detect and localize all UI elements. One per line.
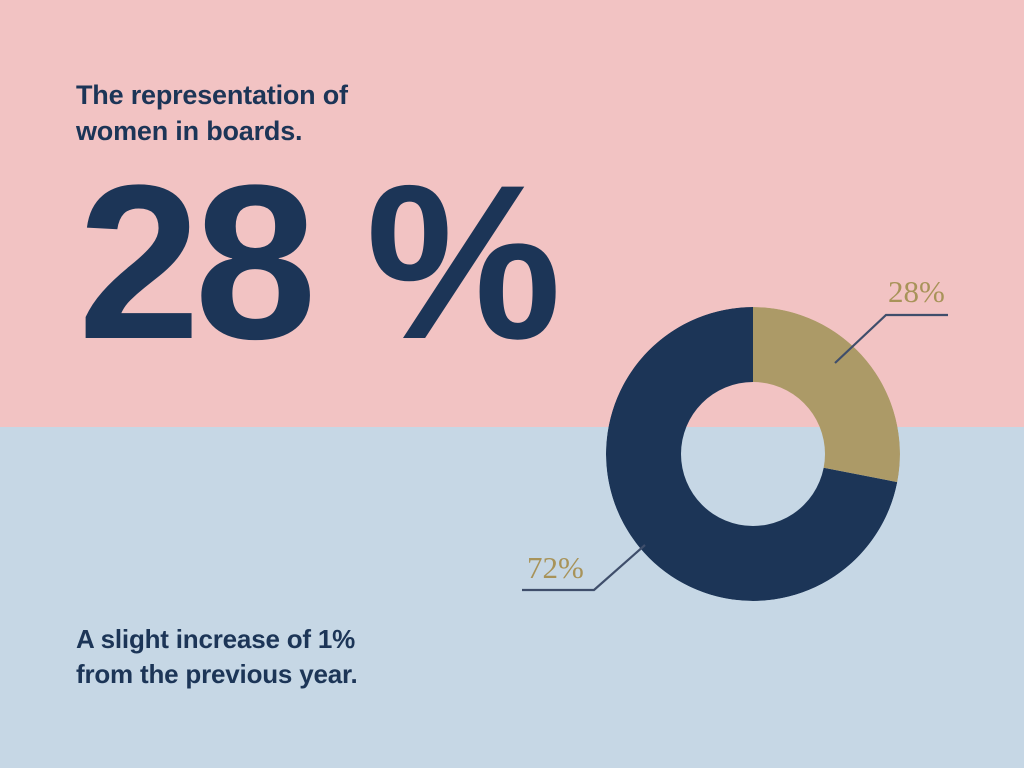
slice-label-72: 72%: [527, 550, 584, 585]
infographic-slide: The representation of women in boards. 2…: [0, 0, 1024, 768]
donut-chart-svg: 28% 72%: [0, 0, 1024, 768]
donut-chart: 28% 72%: [0, 0, 1024, 768]
donut-slice-women[interactable]: [753, 307, 900, 482]
slice-label-28: 28%: [888, 274, 945, 309]
